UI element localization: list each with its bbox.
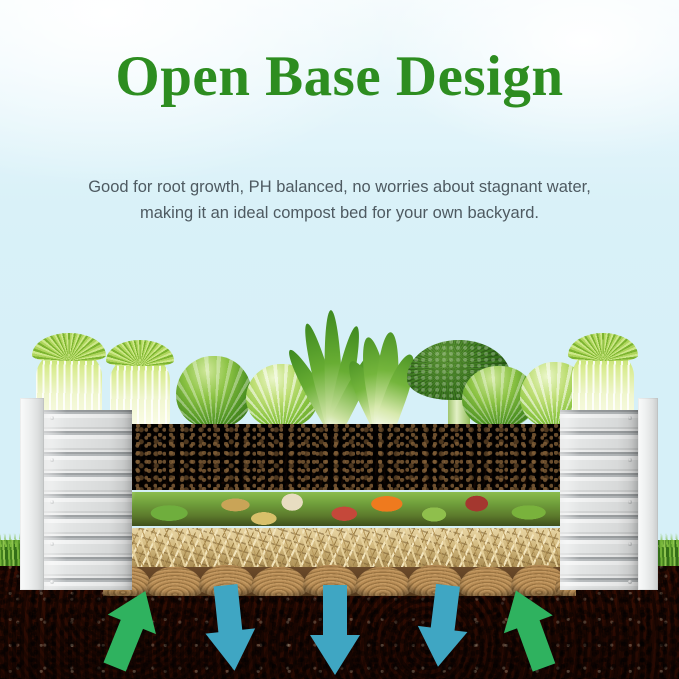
drainage-arrow-down-3 bbox=[416, 583, 470, 669]
subtitle-line-1: Good for root growth, PH balanced, no wo… bbox=[24, 174, 655, 200]
soil-layer-kitchen-scraps bbox=[103, 492, 576, 526]
plant-cabbage-head bbox=[176, 356, 252, 428]
soil-layer-topsoil bbox=[103, 424, 576, 490]
drainage-arrow-down-2 bbox=[308, 583, 362, 677]
rivet bbox=[50, 500, 54, 504]
page-title: Open Base Design bbox=[0, 46, 679, 108]
log-piece bbox=[251, 567, 307, 596]
soil-layer-straw bbox=[103, 528, 576, 568]
log-piece bbox=[355, 567, 411, 596]
corrugated-ribs-left bbox=[44, 410, 132, 590]
planter-panel-right[interactable] bbox=[560, 398, 658, 590]
rivet bbox=[50, 458, 54, 462]
subtitle-line-2: making it an ideal compost bed for your … bbox=[24, 200, 655, 226]
rivet bbox=[50, 542, 54, 546]
raised-bed-cross-section bbox=[103, 424, 576, 596]
rivet bbox=[628, 416, 632, 420]
corner-post-right bbox=[638, 398, 658, 590]
rivet bbox=[628, 542, 632, 546]
airflow-arrow-up-right bbox=[498, 586, 562, 672]
airflow-arrow-up-left bbox=[98, 586, 162, 672]
rivet bbox=[50, 416, 54, 420]
rivet bbox=[628, 458, 632, 462]
rivet bbox=[628, 580, 632, 584]
corrugated-ribs-right bbox=[560, 410, 638, 590]
rivet bbox=[50, 580, 54, 584]
drainage-arrow-down-1 bbox=[203, 583, 257, 673]
rivet bbox=[628, 500, 632, 504]
page-subtitle: Good for root growth, PH balanced, no wo… bbox=[24, 174, 655, 226]
planter-panel-left[interactable] bbox=[20, 398, 132, 590]
corner-post-left bbox=[20, 398, 44, 590]
promo-image-canvas: Open Base Design Good for root growth, P… bbox=[0, 0, 679, 679]
